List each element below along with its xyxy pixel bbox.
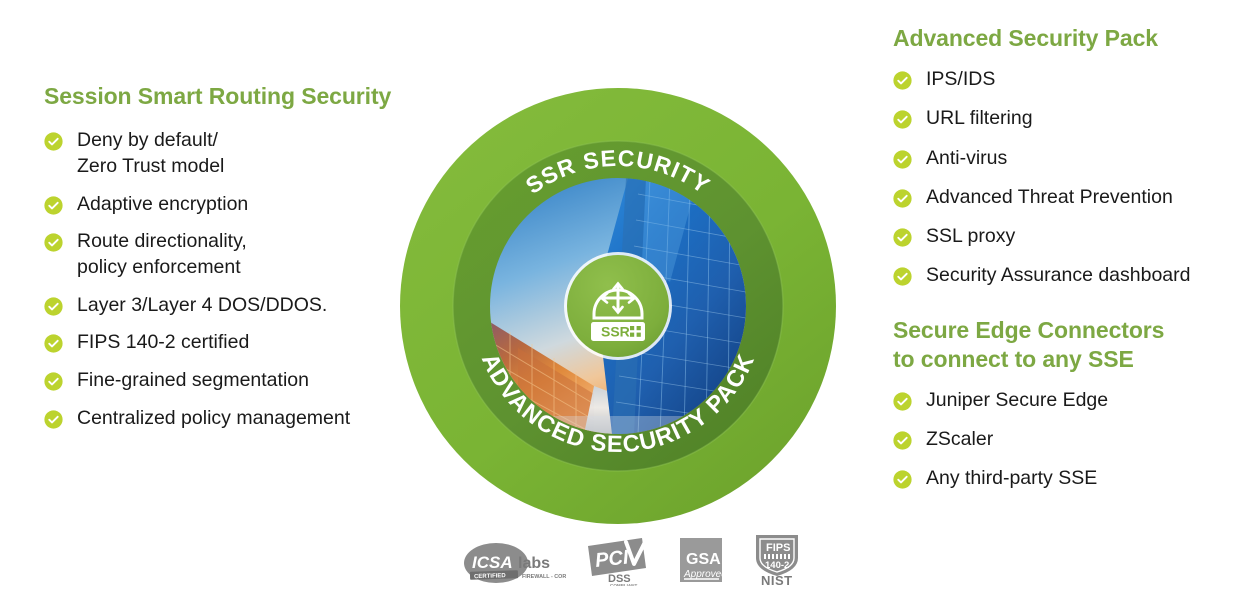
pci-dss-logo: PCI DSS COMPLIANT — [584, 534, 654, 586]
right-column: Advanced Security Pack IPS/IDS URL filte… — [893, 24, 1238, 505]
list-item-label: Anti-virus — [926, 146, 1007, 172]
list-item: Any third-party SSE — [893, 466, 1238, 492]
list-item: Layer 3/Layer 4 DOS/DDOS. — [44, 293, 404, 319]
list-item-label: IPS/IDS — [926, 67, 995, 93]
list-item: Juniper Secure Edge — [893, 388, 1238, 414]
check-circle-icon — [893, 470, 912, 489]
list-item-label: Deny by default/ Zero Trust model — [77, 128, 224, 179]
svg-text:GSA: GSA — [686, 551, 721, 568]
left-column-heading: Session Smart Routing Security — [44, 82, 404, 110]
list-item: Fine-grained segmentation — [44, 368, 404, 394]
svg-text:FIREWALL - CORPORATE: FIREWALL - CORPORATE — [522, 574, 566, 580]
svg-text:PCI: PCI — [594, 547, 630, 572]
section-divider-spacer — [893, 302, 1238, 316]
list-item-label: Layer 3/Layer 4 DOS/DDOS. — [77, 293, 327, 319]
list-item: IPS/IDS — [893, 67, 1238, 93]
list-item-label: FIPS 140-2 certified — [77, 330, 249, 356]
check-circle-icon — [893, 71, 912, 90]
check-circle-icon — [893, 392, 912, 411]
list-item: Security Assurance dashboard — [893, 263, 1238, 289]
check-circle-icon — [44, 196, 63, 215]
svg-text:labs: labs — [518, 555, 550, 572]
svg-text:FIPS: FIPS — [766, 542, 790, 554]
list-item: ZScaler — [893, 427, 1238, 453]
advanced-security-pack-heading: Advanced Security Pack — [893, 24, 1238, 52]
list-item-label: Juniper Secure Edge — [926, 388, 1108, 414]
svg-text:NIST: NIST — [761, 573, 793, 586]
list-item-label: SSL proxy — [926, 224, 1015, 250]
certification-logo-strip: ICSA labs CERTIFIED FIREWALL - CORPORATE… — [462, 528, 792, 586]
check-circle-icon — [893, 228, 912, 247]
left-column-bullet-list: Deny by default/ Zero Trust model Adapti… — [44, 128, 404, 432]
list-item-label: Fine-grained segmentation — [77, 368, 309, 394]
secure-edge-connectors-list: Juniper Secure Edge ZScaler Any third-pa… — [893, 388, 1238, 492]
ssr-badge: SSR — [564, 252, 672, 360]
check-circle-icon — [44, 132, 63, 151]
list-item: Advanced Threat Prevention — [893, 185, 1238, 211]
check-circle-icon — [44, 334, 63, 353]
check-circle-icon — [44, 372, 63, 391]
check-circle-icon — [893, 110, 912, 129]
list-item: FIPS 140-2 certified — [44, 330, 404, 356]
security-emblem: SSR SECURITY ADVANCED SECURITY PACK — [398, 86, 838, 526]
list-item: Anti-virus — [893, 146, 1238, 172]
list-item-label: Adaptive encryption — [77, 192, 248, 218]
badge-label: SSR — [601, 324, 630, 340]
svg-text:ICSA: ICSA — [472, 553, 513, 572]
svg-text:COMPLIANT: COMPLIANT — [610, 583, 637, 586]
list-item-label: URL filtering — [926, 106, 1033, 132]
list-item: Route directionality, policy enforcement — [44, 229, 404, 280]
list-item: SSL proxy — [893, 224, 1238, 250]
svg-text:140-2: 140-2 — [765, 560, 789, 571]
list-item-label: ZScaler — [926, 427, 993, 453]
icsa-labs-logo: ICSA labs CERTIFIED FIREWALL - CORPORATE — [462, 540, 566, 586]
list-item-label: Route directionality, policy enforcement — [77, 229, 247, 280]
svg-text:CERTIFIED: CERTIFIED — [474, 573, 507, 580]
check-circle-icon — [893, 189, 912, 208]
list-item-label: Centralized policy management — [77, 406, 350, 432]
list-item-label: Advanced Threat Prevention — [926, 185, 1173, 211]
left-column: Session Smart Routing Security Deny by d… — [44, 82, 404, 444]
check-circle-icon — [44, 233, 63, 252]
list-item: URL filtering — [893, 106, 1238, 132]
fips-nist-logo: FIPS 140-2 NIST — [748, 532, 806, 586]
secure-edge-connectors-heading: Secure Edge Connectors to connect to any… — [893, 316, 1238, 372]
list-item: Deny by default/ Zero Trust model — [44, 128, 404, 179]
check-circle-icon — [44, 410, 63, 429]
check-circle-icon — [893, 150, 912, 169]
gsa-approved-logo: GSA Approved — [672, 536, 730, 586]
list-item-label: Any third-party SSE — [926, 466, 1097, 492]
slide-canvas: Session Smart Routing Security Deny by d… — [0, 0, 1260, 600]
advanced-security-pack-list: IPS/IDS URL filtering Anti-virus Advance… — [893, 67, 1238, 289]
list-item: Centralized policy management — [44, 406, 404, 432]
list-item-label: Security Assurance dashboard — [926, 263, 1191, 289]
check-circle-icon — [893, 267, 912, 286]
check-circle-icon — [893, 431, 912, 450]
check-circle-icon — [44, 297, 63, 316]
list-item: Adaptive encryption — [44, 192, 404, 218]
